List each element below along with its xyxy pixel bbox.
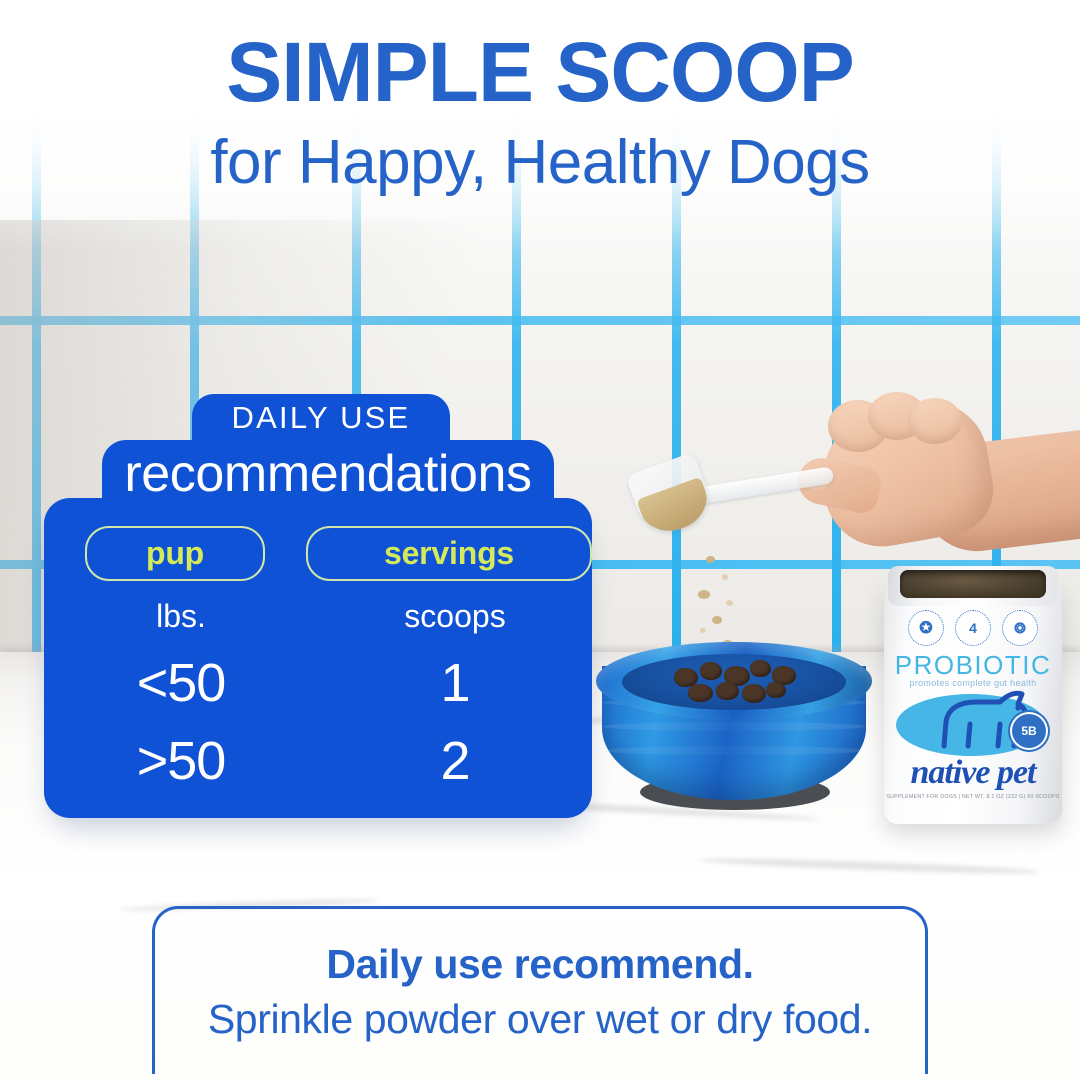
caption-box: Daily use recommend. Sprinkle powder ove… <box>152 906 928 1074</box>
product-infographic: SIMPLE SCOOP for Happy, Healthy Dogs <box>0 0 1080 1080</box>
pill-servings: servings <box>306 526 592 581</box>
page-subtitle: for Happy, Healthy Dogs <box>0 130 1080 195</box>
knuckle <box>908 398 962 444</box>
row-weight: >50 <box>44 730 318 792</box>
header: SIMPLE SCOOP for Happy, Healthy Dogs <box>0 30 1080 195</box>
tin-seal-badges: ✪ 4 ❂ <box>908 610 1038 646</box>
quality-seal-icon: ❂ <box>1002 610 1038 646</box>
caption-line-2: Sprinkle powder over wet or dry food. <box>208 996 872 1043</box>
tin-fine-print: SUPPLEMENT FOR DOGS | NET WT. 8.1 OZ (23… <box>884 794 1062 800</box>
table-row: <50 1 <box>44 652 592 714</box>
dog-food-bowl <box>596 636 872 822</box>
bowl-rib <box>602 746 866 755</box>
probiotic-tin: ✪ 4 ❂ PROBIOTIC promotes complete gut he… <box>884 566 1062 824</box>
caption-line-1: Daily use recommend. <box>326 941 753 988</box>
column-header-scoops: scoops <box>318 598 592 635</box>
tin-open-powder <box>900 570 1046 598</box>
row-scoops: 2 <box>318 730 592 792</box>
paw-seal-icon: ✪ <box>908 610 944 646</box>
page-title: SIMPLE SCOOP <box>0 30 1080 116</box>
card-heading: recommendations <box>82 444 574 504</box>
card-pill-row: pup servings <box>44 526 592 581</box>
pill-pup: pup <box>85 526 265 581</box>
product-category: PROBIOTIC <box>884 650 1062 681</box>
card-column-headers: lbs. scoops <box>44 598 592 635</box>
table-row: >50 2 <box>44 730 592 792</box>
card-eyebrow: DAILY USE <box>192 400 450 436</box>
row-weight: <50 <box>44 652 318 714</box>
row-scoops: 1 <box>318 652 592 714</box>
daily-use-card: DAILY USE recommendations pup servings l… <box>44 394 592 818</box>
brand-wordmark: native pet <box>884 754 1062 792</box>
column-header-lbs: lbs. <box>44 598 318 635</box>
strain-count-seal-icon: 4 <box>955 610 991 646</box>
bowl-rib <box>602 722 866 731</box>
cfu-seal-badge: 5B <box>1012 714 1046 748</box>
